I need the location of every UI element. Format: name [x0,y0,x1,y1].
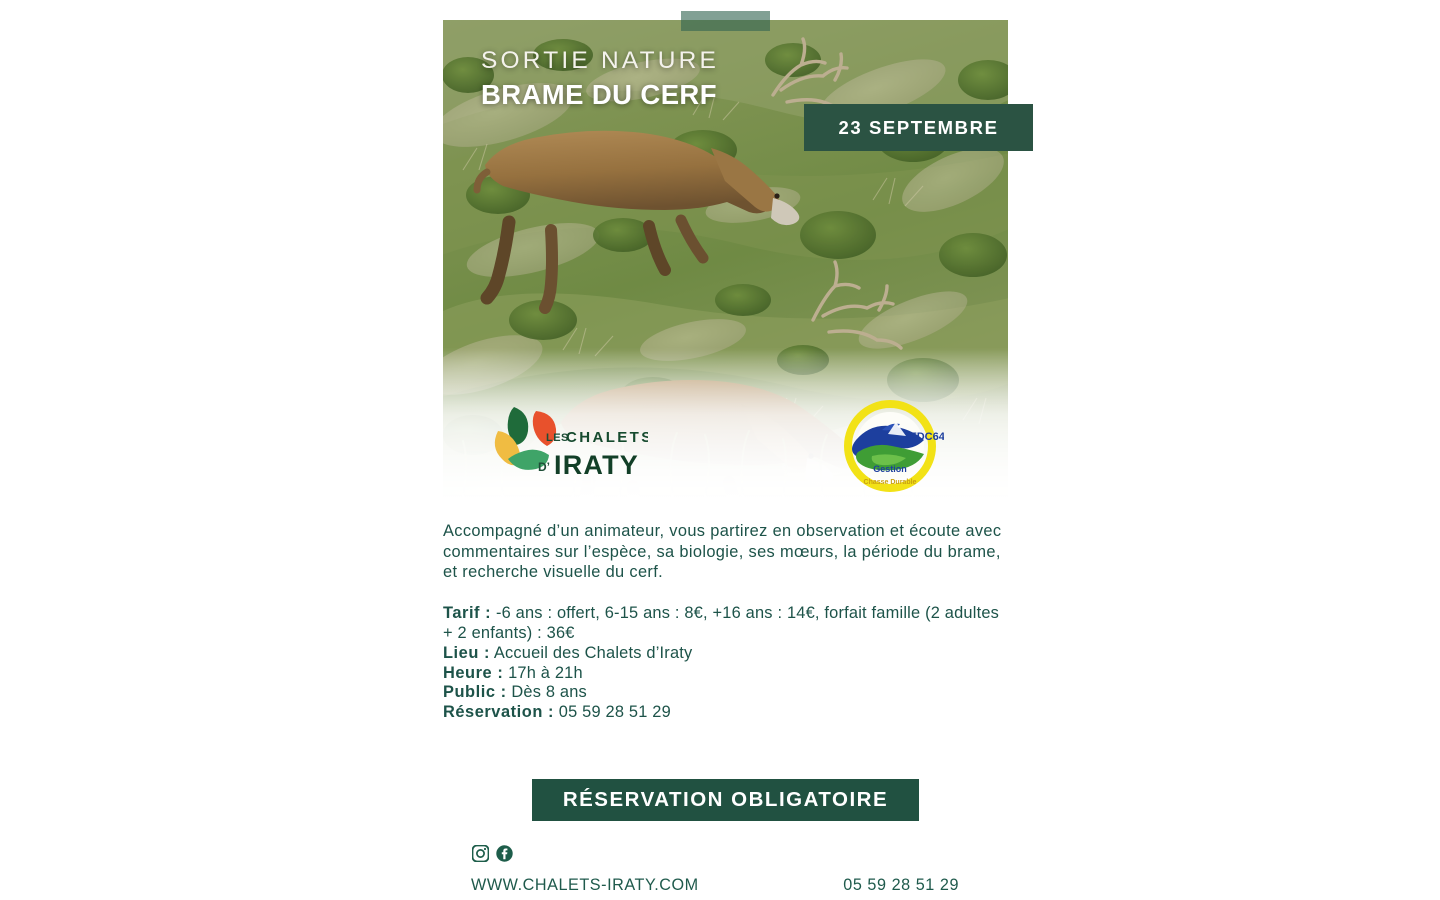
detail-label-heure: Heure : [443,664,503,682]
svg-text:Chasse Durable: Chasse Durable [864,479,917,486]
detail-label-reservation: Réservation : [443,703,554,721]
detail-value-lieu: Accueil des Chalets d’Iraty [494,644,693,662]
hero-kicker: SORTIE NATURE [481,48,719,75]
detail-value-public: Dès 8 ans [511,683,587,701]
social-links [472,845,513,862]
footer-website[interactable]: WWW.CHALETS-IRATY.COM [471,876,699,895]
facebook-icon[interactable] [496,845,513,862]
svg-text:Gestion: Gestion [873,464,907,474]
reservation-obligatoire-label: RÉSERVATION OBLIGATOIRE [563,788,888,812]
detail-label-lieu: Lieu : [443,644,490,662]
date-badge-label: 23 SEPTEMBRE [838,117,998,139]
details-list: Tarif : -6 ans : offert, 6-15 ans : 8€, … [443,604,1011,723]
detail-row-public: Public : Dès 8 ans [443,683,1011,703]
instagram-link[interactable] [472,845,489,862]
svg-text:IRATY: IRATY [554,450,639,480]
instagram-icon[interactable] [472,845,489,862]
detail-row-tarif: Tarif : -6 ans : offert, 6-15 ans : 8€, … [443,604,1011,644]
intro-paragraph: Accompagné d’un animateur, vous partirez… [443,521,1011,583]
date-badge: 23 SEPTEMBRE [804,104,1033,151]
svg-text:D’: D’ [538,460,550,474]
detail-label-public: Public : [443,683,507,701]
footer-phone: 05 59 28 51 29 [843,876,959,895]
facebook-link[interactable] [496,845,513,862]
detail-value-tarif: -6 ans : offert, 6-15 ans : 8€, +16 ans … [443,604,999,642]
hero-banner: SORTIE NATURE BRAME DU CERF LES CHALETS … [443,20,1008,497]
hero-title-block: SORTIE NATURE BRAME DU CERF [481,48,719,112]
detail-row-heure: Heure : 17h à 21h [443,664,1011,684]
footer-contact-row: WWW.CHALETS-IRATY.COM 05 59 28 51 29 [471,876,1011,895]
svg-text:CHALETS: CHALETS [566,429,648,446]
detail-row-reservation: Réservation : 05 59 28 51 29 [443,703,1011,723]
top-accent-tab [681,11,770,31]
fdc64-logo: FDC64 Gestion Chasse Durable [836,400,944,492]
detail-label-tarif: Tarif : [443,604,491,622]
detail-value-reservation: 05 59 28 51 29 [559,703,671,721]
hero-headline: BRAME DU CERF [481,78,719,112]
reservation-obligatoire-button[interactable]: RÉSERVATION OBLIGATOIRE [532,779,919,821]
detail-value-heure: 17h à 21h [508,664,583,682]
poster-page: SORTIE NATURE BRAME DU CERF LES CHALETS … [0,0,1440,900]
svg-text:FDC64: FDC64 [910,431,944,443]
les-chalets-iraty-logo: LES CHALETS D’ IRATY [488,401,648,481]
detail-row-lieu: Lieu : Accueil des Chalets d’Iraty [443,644,1011,664]
event-description: Accompagné d’un animateur, vous partirez… [443,521,1011,723]
